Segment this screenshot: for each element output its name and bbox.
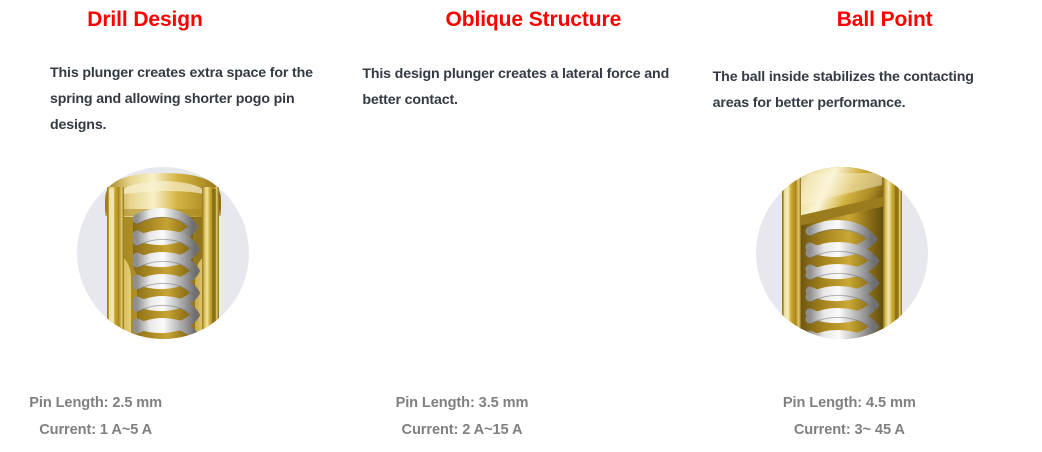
pogo-pin-comparison-board: Drill Design This plunger creates extra … (0, 0, 1042, 452)
card-title-drill-design: Drill Design (0, 8, 290, 32)
pogo-pin-drill-design-illustration (75, 165, 251, 341)
card-title-oblique-structure: Oblique Structure (347, 8, 719, 32)
card-description-oblique-structure: This design plunger creates a lateral fo… (362, 61, 682, 113)
card-title-ball-point: Ball Point (695, 8, 1042, 32)
card-description-ball-point: The ball inside stabilizes the contactin… (713, 64, 1013, 116)
product-card-drill-design: Drill Design This plunger creates extra … (0, 0, 347, 452)
spec-block-oblique-structure: Pin Length: 3.5 mm Current: 2 A~15 A (288, 390, 635, 444)
product-card-oblique-structure: Oblique Structure This design plunger cr… (347, 0, 694, 452)
card-description-drill-design: This plunger creates extra space for the… (50, 60, 352, 138)
spec-current: Current: 3~ 45 A (676, 417, 1023, 444)
spec-current: Current: 2 A~15 A (288, 417, 635, 444)
spec-pin-length: Pin Length: 4.5 mm (676, 390, 1023, 417)
spec-pin-length: Pin Length: 3.5 mm (288, 390, 635, 417)
spec-block-drill-design: Pin Length: 2.5 mm Current: 1 A~5 A (0, 390, 269, 444)
spec-pin-length: Pin Length: 2.5 mm (0, 390, 269, 417)
spec-current: Current: 1 A~5 A (0, 417, 269, 444)
spec-block-ball-point: Pin Length: 4.5 mm Current: 3~ 45 A (676, 390, 1023, 444)
product-card-ball-point: Ball Point The ball inside stabilizes th… (695, 0, 1042, 452)
